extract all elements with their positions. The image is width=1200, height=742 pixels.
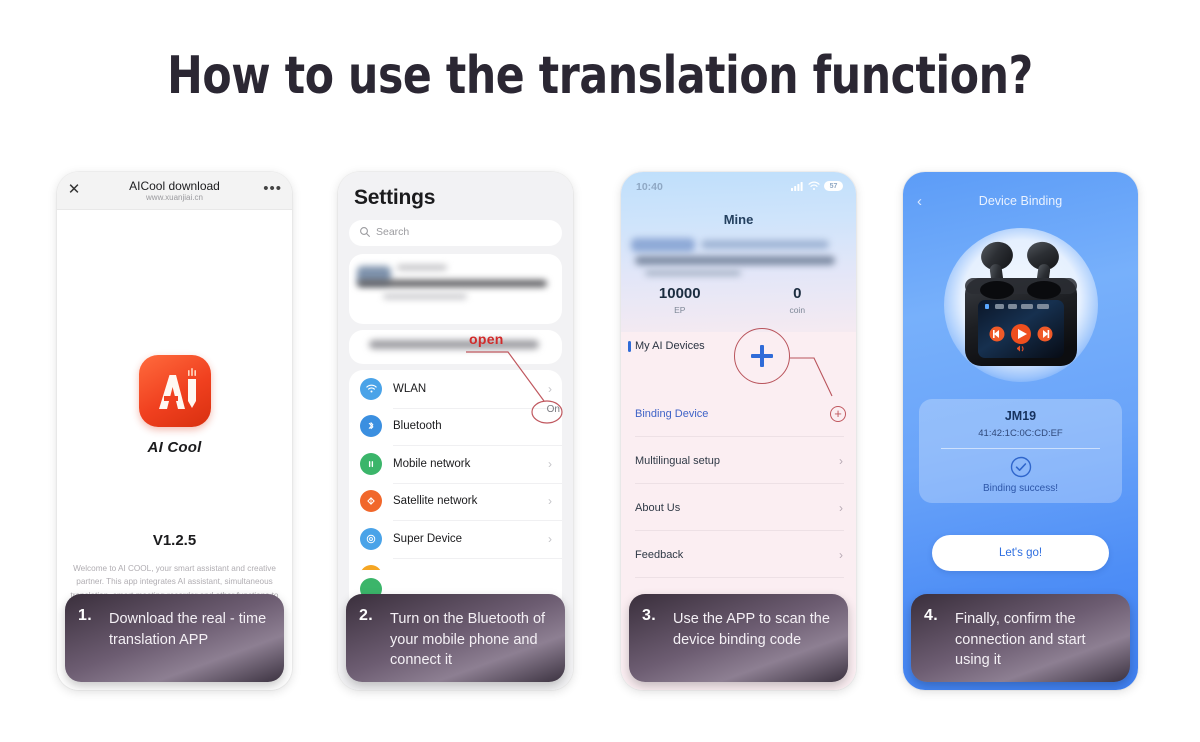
chevron-right-icon: ›	[839, 454, 843, 468]
phone-mockup-1: ✕ AICool download www.xuanjiai.cn •••	[57, 172, 292, 690]
stat-coin: 0 coin	[739, 285, 857, 331]
wifi-icon	[360, 378, 382, 400]
step-caption-3: 3. Use the APP to scan the device bindin…	[629, 594, 848, 682]
section-title-my-ai-devices: My AI Devices	[635, 340, 705, 352]
stats-row: 10000 EP 0 coin	[621, 285, 856, 331]
chevron-right-icon: ›	[839, 501, 843, 515]
blurred-account-card	[349, 254, 562, 324]
status-icons: 57	[791, 181, 843, 191]
menu-item-about-us[interactable]: About Us ›	[621, 484, 856, 531]
chevron-right-icon: ›	[839, 548, 843, 562]
settings-row-label: Mobile network	[393, 458, 470, 470]
earbuds-image	[951, 234, 1091, 389]
settings-row-label: Super Device	[393, 533, 462, 545]
signal-icon	[791, 181, 804, 191]
search-input[interactable]: Search	[349, 220, 562, 246]
menu-item-label: Binding Device	[635, 408, 708, 420]
settings-title: Settings	[354, 186, 435, 210]
divider	[941, 448, 1100, 449]
mobile-network-icon	[360, 453, 382, 475]
stat-value: 10000	[621, 285, 739, 302]
page-title: How to use the translation function?	[108, 46, 1092, 106]
settings-row-super-device[interactable]: Super Device ›	[349, 520, 562, 558]
menu-item-label: About Us	[635, 502, 680, 514]
menu-item-label: Multilingual setup	[635, 455, 720, 467]
chevron-right-icon: ›	[548, 494, 552, 508]
settings-row-satellite-network[interactable]: Satellite network ›	[349, 483, 562, 521]
menu-item-feedback[interactable]: Feedback ›	[621, 531, 856, 578]
settings-row-label: Bluetooth	[393, 420, 442, 432]
success-check-icon	[1010, 456, 1032, 483]
step-caption-1: 1. Download the real - time translation …	[65, 594, 284, 682]
step-text: Download the real - time translation APP	[109, 609, 276, 650]
stat-value: 0	[739, 285, 857, 302]
aicool-app-icon[interactable]	[139, 355, 211, 427]
menu-item-binding-device[interactable]: Binding Device +	[621, 390, 856, 437]
add-device-icon[interactable]: +	[830, 406, 846, 422]
step-caption-2: 2. Turn on the Bluetooth of your mobile …	[346, 594, 565, 682]
step-number: 3.	[642, 607, 656, 625]
stat-label: EP	[621, 305, 739, 315]
bluetooth-icon	[360, 415, 382, 437]
settings-list: WLAN › Bluetooth Mobile network ›	[349, 370, 562, 595]
stat-ep: 10000 EP	[621, 285, 739, 331]
step-number: 2.	[359, 607, 373, 625]
blurred-profile	[631, 234, 846, 282]
status-time: 10:40	[636, 181, 663, 193]
browser-title: AICool download	[57, 179, 292, 193]
satellite-icon	[360, 490, 382, 512]
phone-mockup-4: ‹ Device Binding	[903, 172, 1138, 690]
step-number: 4.	[924, 607, 938, 625]
step-text: Finally, confirm the connection and star…	[955, 609, 1122, 671]
page-title: Mine	[621, 212, 856, 227]
device-name: JM19	[919, 409, 1122, 423]
super-device-icon	[360, 528, 382, 550]
settings-row-bluetooth[interactable]: Bluetooth	[349, 408, 562, 446]
settings-row-label: Satellite network	[393, 495, 477, 507]
menu-item-label: Feedback	[635, 549, 683, 561]
step-text: Turn on the Bluetooth of your mobile pho…	[390, 609, 557, 671]
settings-row-mobile-network[interactable]: Mobile network ›	[349, 445, 562, 483]
chevron-right-icon: ›	[548, 382, 552, 396]
phone-mockup-3: 10:40 57 Mine	[621, 172, 856, 690]
search-placeholder: Search	[376, 226, 409, 238]
step-number: 1.	[78, 607, 92, 625]
annotation-open-label: open	[469, 331, 504, 347]
status-badge: Binding success!	[919, 483, 1122, 494]
lets-go-button[interactable]: Let's go!	[932, 535, 1109, 571]
device-info-card: JM19 41:42:1C:0C:CD:EF Binding success!	[919, 399, 1122, 503]
wifi-icon	[808, 181, 820, 191]
device-mac-address: 41:42:1C:0C:CD:EF	[919, 428, 1122, 439]
stat-label: coin	[739, 305, 857, 315]
phone-mockup-2: Settings Search	[338, 172, 573, 690]
app-name: AI Cool	[57, 439, 292, 456]
step-caption-4: 4. Finally, confirm the connection and s…	[911, 594, 1130, 682]
settings-row-label: WLAN	[393, 383, 426, 395]
bluetooth-status-value: On	[547, 404, 560, 415]
battery-icon: 57	[824, 181, 843, 191]
mine-menu-list: Binding Device + Multilingual setup › Ab…	[621, 390, 856, 625]
menu-item-multilingual-setup[interactable]: Multilingual setup ›	[621, 437, 856, 484]
chevron-right-icon: ›	[548, 457, 552, 471]
step-text: Use the APP to scan the device binding c…	[673, 609, 840, 650]
blurred-settings-card	[349, 330, 562, 364]
plus-icon	[749, 343, 775, 369]
settings-row-wlan[interactable]: WLAN ›	[349, 370, 562, 408]
page-title: Device Binding	[903, 194, 1138, 208]
annotation-plus-highlight	[734, 328, 790, 384]
browser-header: ✕ AICool download www.xuanjiai.cn •••	[57, 172, 292, 210]
status-bar: 10:40 57	[621, 181, 856, 195]
more-options-icon[interactable]: •••	[263, 181, 282, 197]
app-version: V1.2.5	[57, 532, 292, 549]
browser-url: www.xuanjiai.cn	[57, 193, 292, 202]
search-icon	[359, 226, 371, 238]
chevron-right-icon: ›	[548, 532, 552, 546]
poster-root: How to use the translation function? ✕ A…	[0, 0, 1200, 742]
